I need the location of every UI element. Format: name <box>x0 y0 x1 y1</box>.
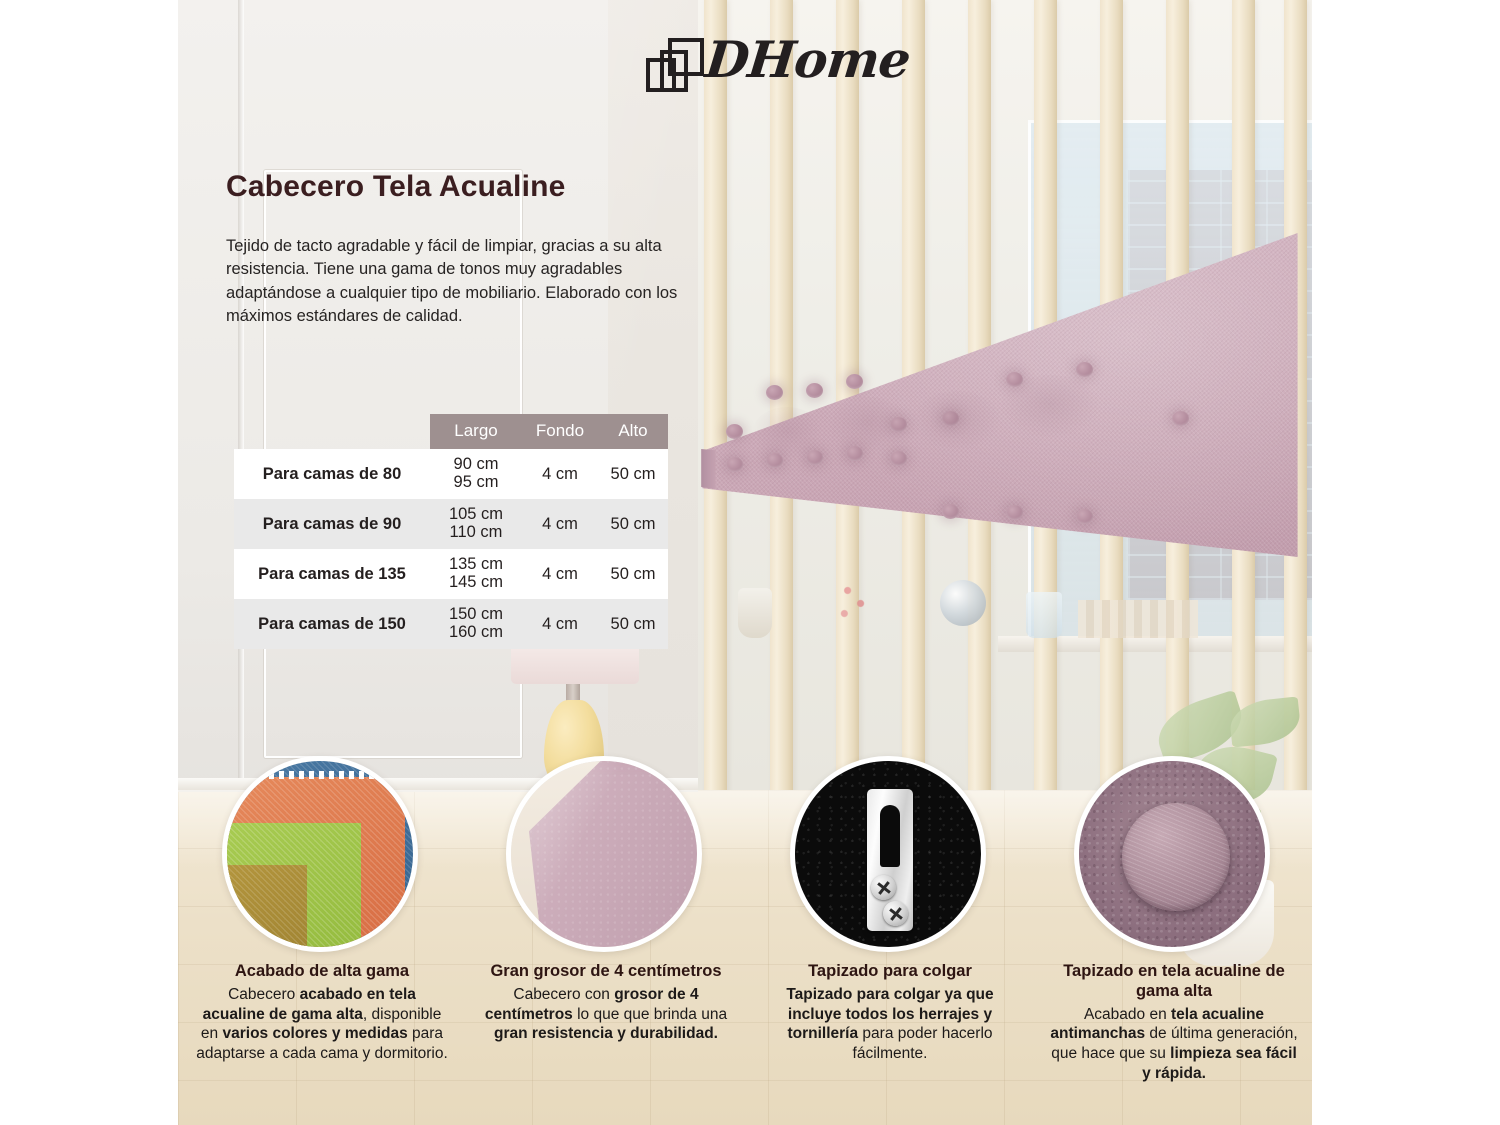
door-edge <box>238 0 244 790</box>
overlapping-squares-icon <box>646 38 708 96</box>
brand-name: DHome <box>703 30 913 89</box>
row-largo-2: 160 cm <box>430 624 522 642</box>
tufting-button <box>846 374 863 389</box>
tufting-button <box>1172 411 1189 426</box>
feature-2 <box>506 756 706 952</box>
tufting-button <box>1006 372 1023 387</box>
feature-caption-4: Tapizado en tela acualine de gama alta A… <box>1048 962 1300 1084</box>
row-alto: 50 cm <box>598 499 668 549</box>
row-label: Para camas de 80 <box>234 449 430 499</box>
row-largo-2: 110 cm <box>430 524 522 542</box>
row-largo-1: 135 cm <box>430 556 522 574</box>
caption-title: Acabado de alta gama <box>196 962 448 982</box>
swatch-olive <box>222 865 307 952</box>
fabric-swatches-icon <box>222 756 418 952</box>
feature-caption-2: Gran grosor de 4 centímetros Cabecero co… <box>480 962 732 1044</box>
tufting-button <box>766 385 783 400</box>
page-title: Cabecero Tela Acualine <box>226 170 566 204</box>
row-label: Para camas de 150 <box>234 599 430 649</box>
row-fondo: 4 cm <box>522 599 598 649</box>
row-alto: 50 cm <box>598 549 668 599</box>
tufting-button <box>726 457 743 472</box>
tufting-button <box>942 504 959 519</box>
row-alto: 50 cm <box>598 449 668 499</box>
headboard-product-image <box>700 225 1300 625</box>
tufting-button <box>890 451 907 466</box>
keyhole-slot <box>880 805 900 867</box>
tufting-button <box>1076 362 1093 377</box>
table-row: Para camas de 135 135 cm 145 cm 4 cm 50 … <box>234 549 668 599</box>
caption-title: Tapizado en tela acualine de gama alta <box>1048 962 1300 1002</box>
row-alto: 50 cm <box>598 599 668 649</box>
table-header-largo: Largo <box>430 414 522 449</box>
swatch-orange-edge <box>222 771 405 779</box>
feature-3 <box>790 756 990 952</box>
row-largo: 105 cm 110 cm <box>430 499 522 549</box>
headboard-side-edge <box>701 449 715 489</box>
table-header-fondo: Fondo <box>522 414 598 449</box>
feature-caption-1: Acabado de alta gama Cabecero acabado en… <box>196 962 448 1064</box>
infographic-canvas: DHome Cabecero Tela Acualine Tejido de t… <box>0 0 1500 1125</box>
screw <box>871 875 896 900</box>
row-largo: 150 cm 160 cm <box>430 599 522 649</box>
tufting-button <box>1006 505 1023 520</box>
row-label: Para camas de 90 <box>234 499 430 549</box>
logo-square-large <box>668 38 704 76</box>
tufting-button <box>846 446 863 461</box>
row-largo-1: 90 cm <box>430 456 522 474</box>
row-largo: 135 cm 145 cm <box>430 549 522 599</box>
wall-bracket-icon <box>790 756 986 952</box>
caption-body: Tapizado para colgar ya que incluye todo… <box>764 985 1016 1064</box>
screw <box>883 901 908 926</box>
row-largo-2: 95 cm <box>430 474 522 492</box>
caption-title: Gran grosor de 4 centímetros <box>480 962 732 982</box>
row-label: Para camas de 135 <box>234 549 430 599</box>
table-header-corner <box>234 414 430 449</box>
fabric-thickness-icon <box>506 756 702 952</box>
tufting-button <box>726 424 743 439</box>
row-fondo: 4 cm <box>522 549 598 599</box>
product-description: Tejido de tacto agradable y fácil de lim… <box>226 235 678 329</box>
tufting-button <box>806 383 823 398</box>
headboard-panel <box>700 225 1300 625</box>
feature-caption-3: Tapizado para colgar Tapizado para colga… <box>764 962 1016 1064</box>
covered-button <box>1122 803 1230 911</box>
row-largo-1: 150 cm <box>430 606 522 624</box>
feature-1 <box>222 756 422 952</box>
row-fondo: 4 cm <box>522 449 598 499</box>
brand-logo: DHome <box>640 32 880 102</box>
table-header-row: Largo Fondo Alto <box>234 414 668 449</box>
tufting-button-icon <box>1074 756 1270 952</box>
table-row: Para camas de 150 150 cm 160 cm 4 cm 50 … <box>234 599 668 649</box>
tufting-button <box>942 411 959 426</box>
caption-body: Cabecero con grosor de 4 centímetros lo … <box>480 985 732 1044</box>
measurements-table: Largo Fondo Alto Para camas de 80 90 cm … <box>234 414 668 649</box>
table-row: Para camas de 80 90 cm 95 cm 4 cm 50 cm <box>234 449 668 499</box>
row-fondo: 4 cm <box>522 499 598 549</box>
feature-4 <box>1074 756 1274 952</box>
row-largo: 90 cm 95 cm <box>430 449 522 499</box>
tufting-button <box>890 417 907 432</box>
caption-body: Acabado en tela acualine antimanchas de … <box>1048 1005 1300 1084</box>
caption-title: Tapizado para colgar <box>764 962 1016 982</box>
row-largo-1: 105 cm <box>430 506 522 524</box>
tufting-button <box>806 450 823 465</box>
table-row: Para camas de 90 105 cm 110 cm 4 cm 50 c… <box>234 499 668 549</box>
metal-bracket <box>867 789 913 931</box>
tufting-button <box>766 453 783 468</box>
tufting-button <box>1076 509 1093 524</box>
table-header-alto: Alto <box>598 414 668 449</box>
caption-body: Cabecero acabado en tela acualine de gam… <box>196 985 448 1064</box>
row-largo-2: 145 cm <box>430 574 522 592</box>
